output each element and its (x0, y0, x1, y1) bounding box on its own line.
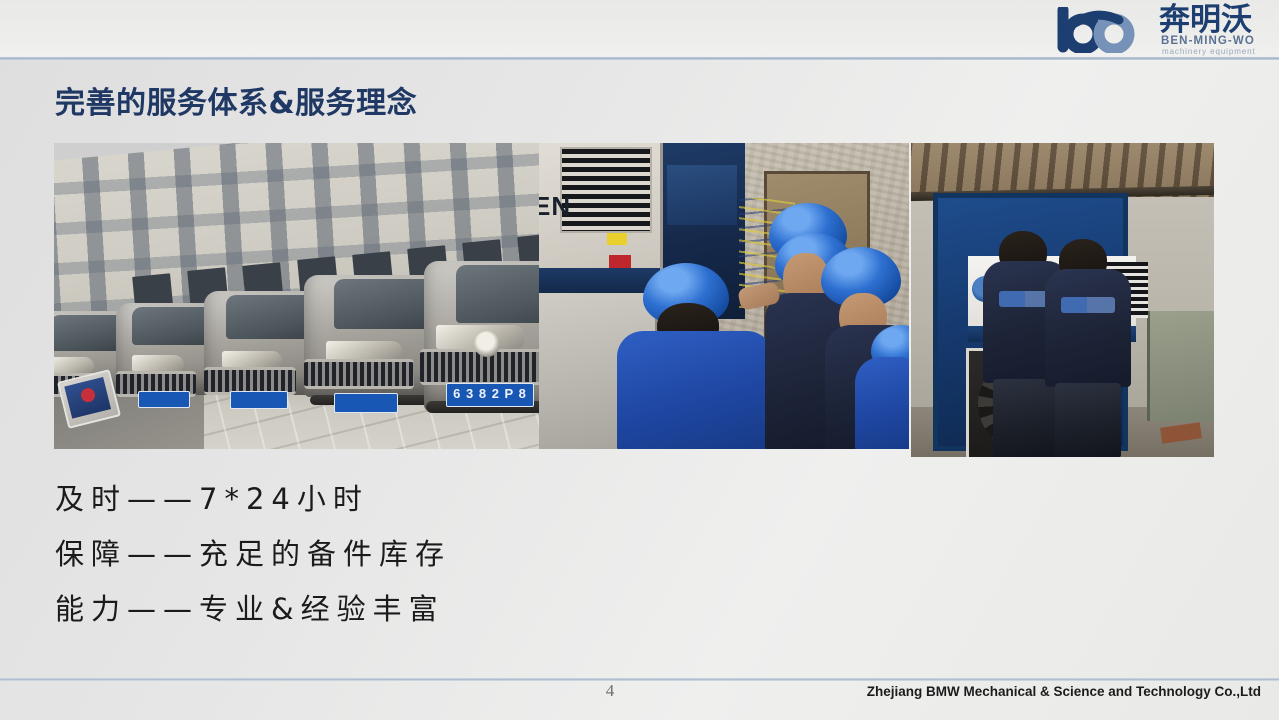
skoda-badge-icon (474, 331, 500, 357)
utility-box (1147, 311, 1214, 421)
photo-technicians-servicing-aerzen-unit: AERZEN (911, 143, 1214, 457)
service-promise-list: 及时——7*24小时 保障——充足的备件库存 能力——专业&经验丰富 (55, 472, 451, 637)
device-indicator-icon (80, 387, 97, 404)
machine-upper-housing (667, 165, 737, 225)
service-promise-line: 保障——充足的备件库存 (55, 527, 451, 582)
device-screen (64, 377, 111, 419)
photo-engineers-inspecting-compressor: EN (539, 143, 909, 449)
jacket-company-logo (1061, 297, 1115, 313)
logo-chinese-name: 奔明沃 (1159, 4, 1252, 36)
car-headlamp (132, 355, 184, 372)
license-plate (334, 393, 398, 413)
warning-sticker (607, 233, 627, 245)
car-headlamp (54, 357, 94, 374)
license-plate (230, 391, 288, 409)
page-title: 完善的服务体系&服务理念 (55, 78, 417, 122)
service-promise-line: 能力——专业&经验丰富 (55, 582, 451, 637)
car-windshield (456, 265, 543, 323)
footer-company-name: Zhejiang BMW Mechanical & Science and Te… (867, 684, 1261, 699)
photo-fleet-of-service-cars: 6 3 8 2 P 8 (54, 143, 543, 449)
car-grille (304, 359, 414, 389)
slide-header: 奔明沃 BEN-MING-WO machinery equipment (0, 0, 1279, 60)
technician-branded-jacket (1045, 269, 1131, 387)
footer-divider (0, 678, 1279, 681)
company-logo: 奔明沃 BEN-MING-WO machinery equipment (1051, 5, 1271, 55)
worker-blue-uniform (617, 331, 773, 449)
header-divider (0, 57, 1279, 60)
technician-legs (993, 379, 1059, 457)
bo-monogram-icon (1057, 7, 1169, 53)
page-number: 4 (598, 681, 622, 701)
equipment-brand-label: EN (539, 191, 571, 222)
machine-blue-band (539, 268, 660, 293)
logo-tagline: machinery equipment (1162, 47, 1256, 56)
car-headlamp (222, 351, 282, 368)
ventilation-louver (560, 147, 652, 233)
logo-latin-name: BEN-MING-WO (1161, 35, 1255, 47)
license-plate-number: 6 3 8 2 P 8 (446, 383, 534, 407)
car-headlamp (326, 341, 402, 361)
worker-blue-uniform (855, 357, 909, 449)
technician-legs (1055, 383, 1121, 457)
service-promise-line: 及时——7*24小时 (55, 472, 451, 527)
license-plate (138, 391, 190, 408)
